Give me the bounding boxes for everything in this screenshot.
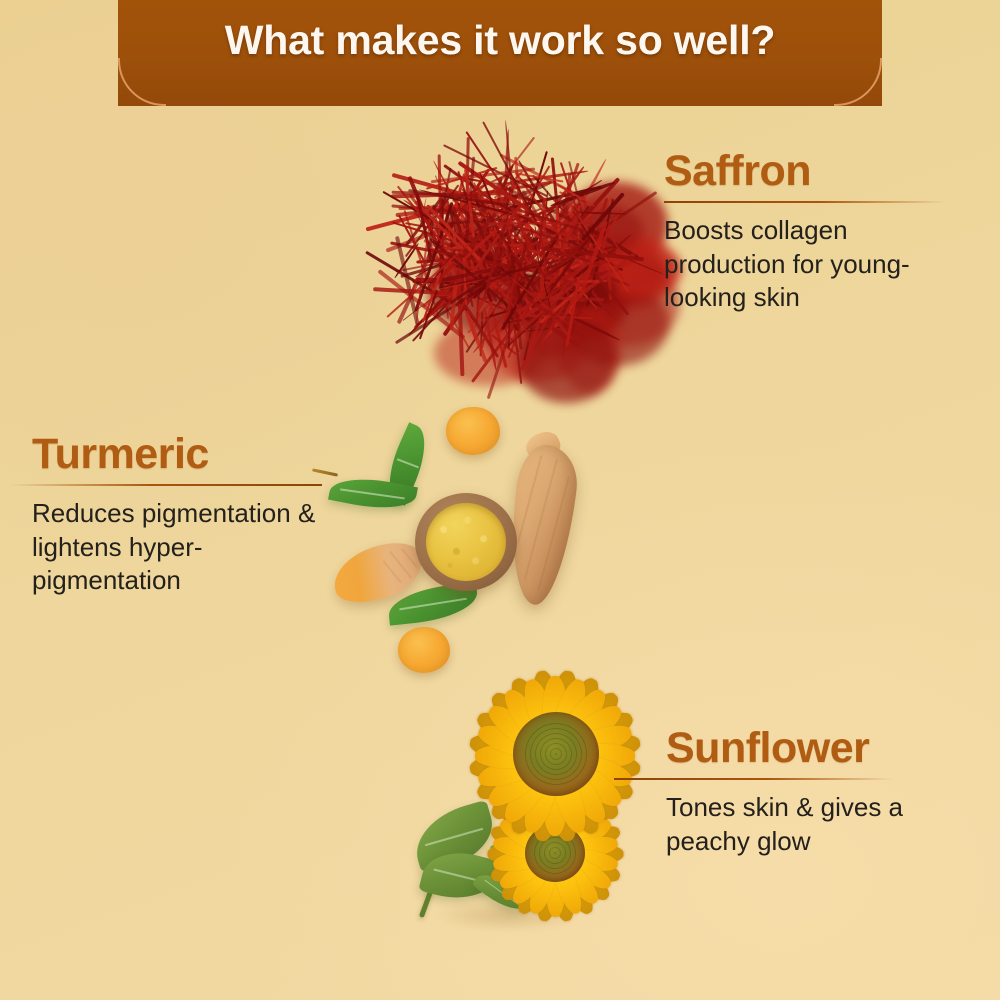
ingredient-description-sunflower: Tones skin & gives a peachy glow [666,791,956,859]
header-banner: What makes it work so well? [118,0,882,106]
divider-saffron [664,201,946,203]
ingredient-description-saffron: Boosts collagen production for young-loo… [664,214,956,315]
ingredient-block-saffron: Saffron Boosts collagen production for y… [664,150,956,315]
turmeric-image [330,405,592,677]
turmeric-slice-icon [446,407,500,455]
turmeric-powder-bowl-icon [415,493,517,591]
ingredient-description-turmeric: Reduces pigmentation & lightens hyper-pi… [32,497,344,598]
infographic-page: What makes it work so well? Saffron Boos… [0,0,1000,1000]
sunflower-image [415,662,685,934]
divider-turmeric [10,484,322,486]
ingredient-title-saffron: Saffron [664,150,956,194]
sunflower-blossom-large-icon [461,662,649,850]
turmeric-powder [426,503,506,581]
turmeric-powder-texture [426,503,506,581]
ingredient-block-turmeric: Turmeric Reduces pigmentation & lightens… [32,433,344,598]
page-title: What makes it work so well? [225,17,776,64]
banner-corner-arc-left-icon [118,58,166,106]
saffron-threads-pile [365,120,655,390]
ingredient-block-sunflower: Sunflower Tones skin & gives a peachy gl… [666,727,956,858]
ingredient-title-turmeric: Turmeric [32,433,344,477]
banner-corner-arc-right-icon [834,58,882,106]
ingredient-title-sunflower: Sunflower [666,727,956,771]
sunflower-disc-center [513,712,599,796]
divider-sunflower [614,778,894,780]
turmeric-whole-root-icon [502,442,581,608]
saffron-image [365,120,655,390]
